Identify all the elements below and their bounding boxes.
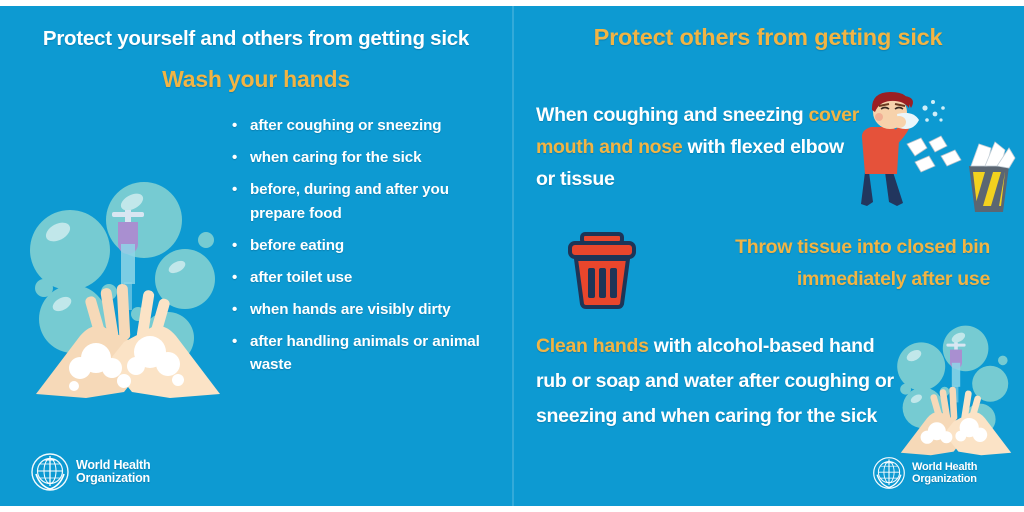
handwashing-bullet-list: after coughing or sneezing when caring f… (232, 114, 497, 385)
list-item: before eating (232, 234, 497, 258)
trash-bin-icon (560, 228, 644, 312)
who-logo-text: World Health Organization (76, 459, 150, 486)
list-item: after coughing or sneezing (232, 114, 497, 138)
who-line-2: Organization (76, 472, 150, 486)
handwashing-illustration-icon (892, 322, 1020, 457)
top-white-strip (0, 0, 1024, 6)
list-item: after handling animals or animal waste (232, 330, 497, 377)
who-logo-text: World Health Organization (912, 461, 977, 485)
clean-hands-highlight: Clean hands (536, 335, 649, 357)
throw-tissue-block: Throw tissue into closed bin immediately… (660, 231, 990, 295)
left-panel-subtitle: Wash your hands (0, 66, 512, 93)
left-panel-title: Protect yourself and others from getting… (0, 27, 512, 51)
person-sneezing-illustration-icon (845, 86, 1021, 216)
clean-hands-block: Clean hands with alcohol-based hand rub … (536, 329, 896, 434)
who-logo: World Health Organization (872, 456, 977, 490)
bottom-white-strip (0, 506, 1024, 512)
throw-line-1: Throw tissue into closed bin (735, 236, 990, 258)
who-line-1: World Health (76, 459, 150, 473)
who-emblem-icon (30, 452, 70, 492)
who-logo: World Health Organization (30, 452, 150, 492)
right-panel-title: Protect others from getting sick (512, 24, 1024, 51)
panel-divider (512, 0, 514, 512)
left-panel: Protect yourself and others from getting… (0, 0, 512, 512)
who-line-1: World Health (912, 461, 977, 473)
cough-instruction-block: When coughing and sneezing cover mouth a… (536, 99, 866, 195)
list-item: when hands are visibly dirty (232, 298, 497, 322)
list-item: when caring for the sick (232, 146, 497, 170)
who-emblem-icon (872, 456, 906, 490)
cough-text-part1: When coughing and sneezing (536, 104, 808, 126)
throw-line-2: immediately after use (797, 268, 990, 290)
who-line-2: Organization (912, 473, 977, 485)
handwashing-illustration-icon (28, 176, 228, 401)
list-item: after toilet use (232, 266, 497, 290)
list-item: before, during and after you prepare foo… (232, 178, 497, 225)
who-hygiene-infographic: Protect yourself and others from getting… (0, 0, 1024, 512)
